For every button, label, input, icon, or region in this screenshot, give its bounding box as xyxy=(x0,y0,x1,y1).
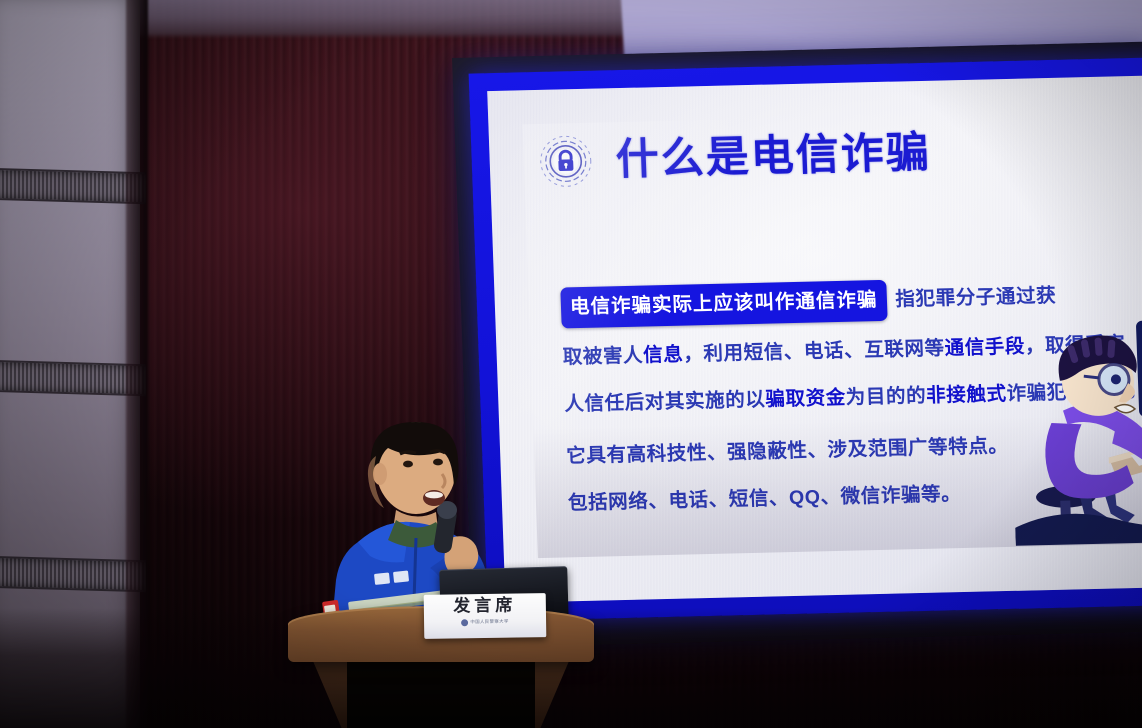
slide-title-row: 什么是电信诈骗 xyxy=(489,119,1142,192)
institution-seal-icon xyxy=(461,619,468,626)
highlight-phrase: 电信诈骗实际上应该叫作通信诈骗 xyxy=(560,280,887,329)
line2-part-b: ，利用短信、电话、互联网等 xyxy=(683,338,945,366)
line2-part-a: 取被害人 xyxy=(562,345,643,369)
slide-title: 什么是电信诈骗 xyxy=(615,131,931,181)
cartoon-scammer-at-computer xyxy=(1007,307,1142,547)
line3-part-b: 为目的的 xyxy=(845,385,926,409)
line3-emphasis-1: 骗取资金 xyxy=(765,387,846,411)
speaker-podium: 发言席 中国人民警察大学 xyxy=(288,602,594,728)
vent-strip-3 xyxy=(0,556,146,592)
vent-strip-2 xyxy=(0,360,146,396)
slide-surface: 什么是电信诈骗 电信诈骗实际上应该叫作通信诈骗指犯罪分子通过获 取被害人信息，利… xyxy=(487,75,1142,603)
padlock-shield-icon xyxy=(537,133,595,190)
nameplate-subtitle: 中国人民警察大学 xyxy=(470,619,508,626)
line2-emphasis-1: 信息 xyxy=(643,344,684,367)
definition-lead: 指犯罪分子通过获 xyxy=(895,285,1057,311)
vent-strip-1 xyxy=(0,168,146,204)
line3-emphasis-2: 非接触式 xyxy=(926,383,1007,407)
line3-part-a: 人信任后对其实施的以 xyxy=(564,389,766,416)
podium-nameplate: 发言席 中国人民警察大学 xyxy=(424,593,547,639)
projection-screen: 什么是电信诈骗 电信诈骗实际上应该叫作通信诈骗指犯罪分子通过获 取被害人信息，利… xyxy=(452,42,1142,648)
podium-base xyxy=(310,654,572,728)
nameplate-title: 发言席 xyxy=(453,597,516,617)
presentation-photo-scene: 什么是电信诈骗 电信诈骗实际上应该叫作通信诈骗指犯罪分子通过获 取被害人信息，利… xyxy=(0,0,1142,728)
nameplate-subtitle-row: 中国人民警察大学 xyxy=(461,618,508,626)
slide-content: 什么是电信诈骗 电信诈骗实际上应该叫作通信诈骗指犯罪分子通过获 取被害人信息，利… xyxy=(487,75,1142,603)
